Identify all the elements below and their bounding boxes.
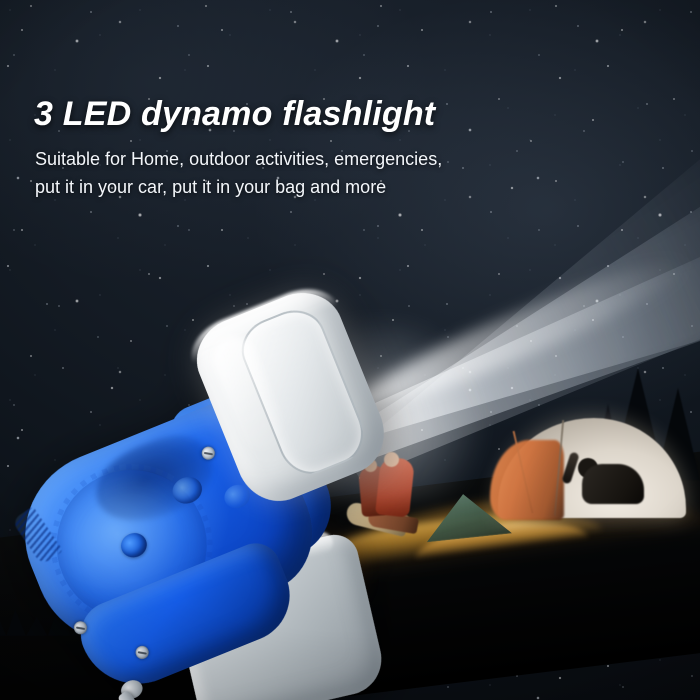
flashlight-crank-arm (117, 690, 177, 700)
subtitle-line-2: put it in your car, put it in your bag a… (35, 173, 555, 201)
tent-person-body (582, 464, 644, 504)
product-banner: 3 LED dynamo flashlight Suitable for Hom… (0, 0, 700, 700)
page-subtitle: Suitable for Home, outdoor activities, e… (35, 145, 555, 201)
page-title: 3 LED dynamo flashlight (34, 95, 435, 134)
dome-tent-orange-flank (490, 440, 564, 520)
dome-tent-group (486, 418, 698, 524)
subtitle-line-1: Suitable for Home, outdoor activities, e… (35, 145, 555, 173)
